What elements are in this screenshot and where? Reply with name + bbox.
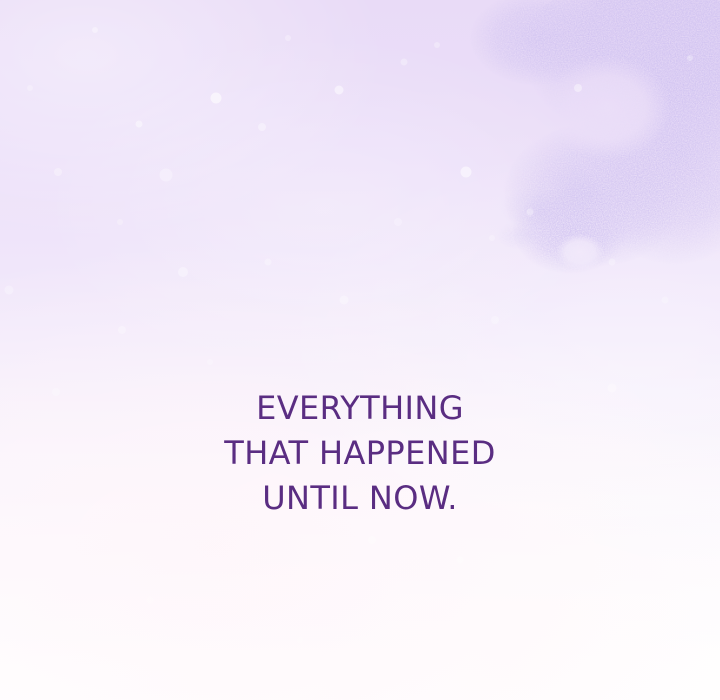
comic-panel: EVERYTHING THAT HAPPENED UNTIL NOW. bbox=[0, 0, 720, 700]
caption-line-2: THAT HAPPENED bbox=[0, 431, 720, 476]
caption-line-1: EVERYTHING bbox=[0, 386, 720, 431]
caption-text-block: EVERYTHING THAT HAPPENED UNTIL NOW. bbox=[0, 386, 720, 521]
background-haze bbox=[0, 0, 720, 700]
caption-line-3: UNTIL NOW. bbox=[0, 476, 720, 521]
